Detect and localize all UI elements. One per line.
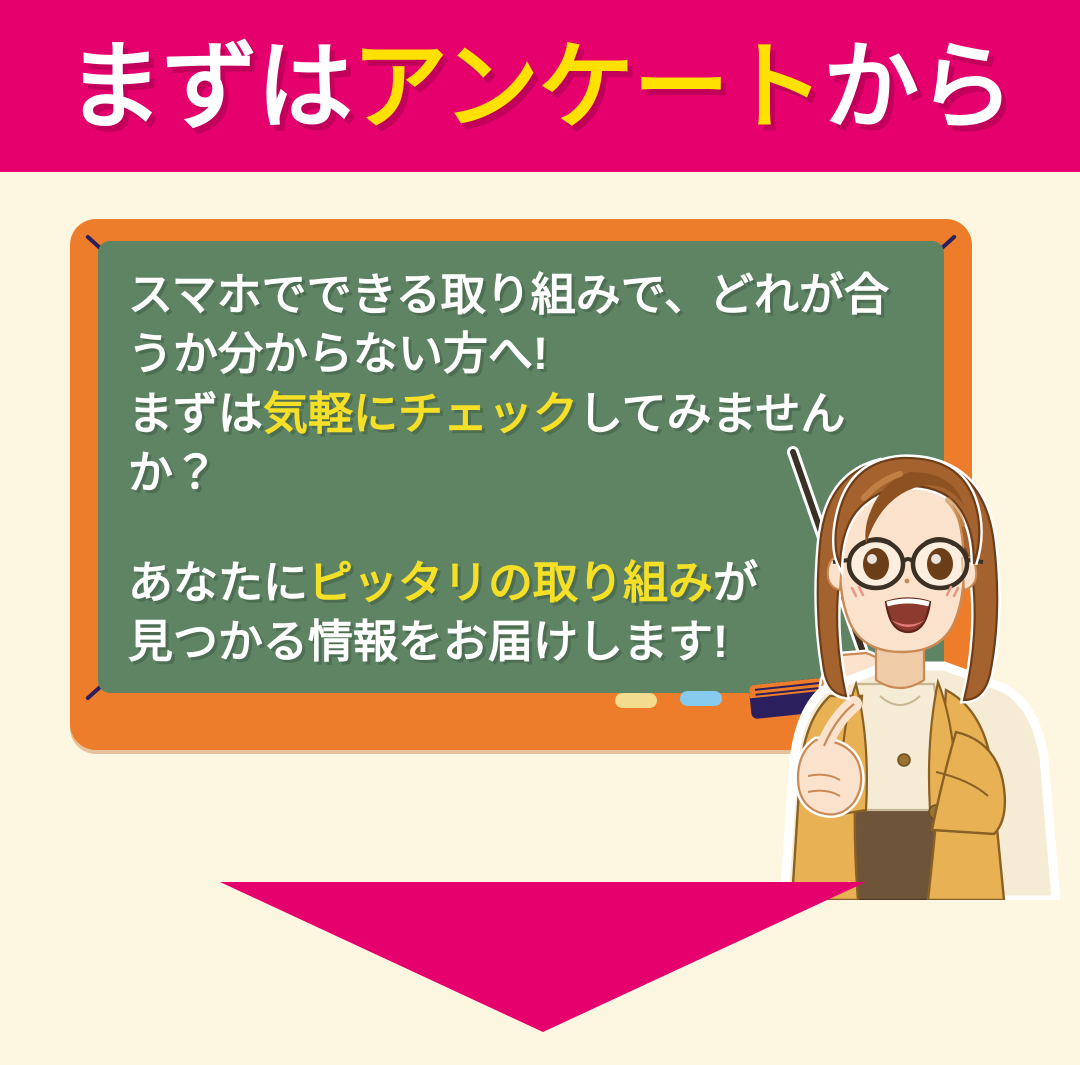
board-line-4-text-a: あなたに bbox=[128, 557, 308, 608]
board-line-4-text-c: が bbox=[713, 557, 758, 608]
promo-banner: まずはアンケートから スマホでできる取り組みで、どれが合 うか分からない方へ! … bbox=[0, 0, 1080, 1065]
board-line-5-text: 見つかる情報をお届けします! bbox=[128, 616, 728, 667]
header-band: まずはアンケートから bbox=[0, 0, 1080, 172]
teacher-illustration bbox=[760, 440, 1080, 900]
board-line-4-text-b-highlight: ピッタリの取り組み bbox=[308, 557, 713, 608]
page-title-part-3: から bbox=[823, 34, 1013, 141]
chalk-yellow-icon bbox=[615, 693, 657, 708]
page-title-part-1: まずは bbox=[67, 34, 352, 141]
chalk-blue-icon bbox=[680, 691, 722, 706]
page-title: まずはアンケートから bbox=[67, 40, 1013, 136]
board-line-3-text-a: まずは bbox=[128, 388, 263, 439]
board-line-3-text-b-highlight: 気軽にチェック bbox=[263, 388, 578, 439]
board-line-1-text: スマホでできる取り組みで、どれが合 bbox=[128, 269, 889, 320]
page-title-part-2-highlight: アンケート bbox=[352, 34, 823, 141]
board-line-2: うか分からない方へ! bbox=[128, 324, 928, 383]
board-line-1: スマホでできる取り組みで、どれが合 bbox=[128, 265, 928, 324]
down-arrow-icon bbox=[220, 882, 866, 1032]
board-line-2-text: うか分からない方へ! bbox=[128, 328, 548, 379]
